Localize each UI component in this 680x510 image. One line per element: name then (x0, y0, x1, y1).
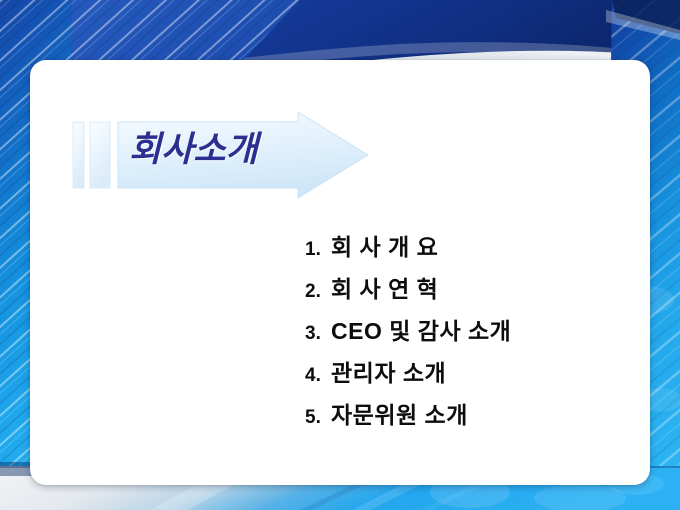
list-item-label: 회 사 개 요 (331, 228, 438, 262)
agenda-list: 1. 회 사 개 요 2. 회 사 연 혁 3. CEO 및 감사 소개 4. … (305, 228, 511, 438)
accent-bar-one (73, 122, 84, 188)
presentation-slide: 회사소개 1. 회 사 개 요 2. 회 사 연 혁 3. CEO 및 감사 소… (0, 0, 680, 510)
accent-bar-two (90, 122, 110, 188)
list-item[interactable]: 4. 관리자 소개 (305, 354, 511, 388)
list-item[interactable]: 3. CEO 및 감사 소개 (305, 312, 511, 346)
list-item-number: 5. (305, 407, 331, 429)
list-item[interactable]: 2. 회 사 연 혁 (305, 270, 511, 304)
list-item-label: CEO 및 감사 소개 (331, 312, 511, 346)
page-title: 회사소개 (129, 131, 258, 170)
list-item[interactable]: 1. 회 사 개 요 (305, 228, 511, 262)
list-item-number: 2. (305, 281, 331, 303)
list-item-number: 3. (305, 323, 331, 345)
list-item-label: 자문위원 소개 (331, 396, 468, 430)
list-item-number: 1. (305, 239, 331, 261)
list-item-number: 4. (305, 365, 331, 387)
list-item-label: 회 사 연 혁 (331, 270, 438, 304)
list-item[interactable]: 5. 자문위원 소개 (305, 396, 511, 430)
list-item-label: 관리자 소개 (331, 354, 446, 388)
